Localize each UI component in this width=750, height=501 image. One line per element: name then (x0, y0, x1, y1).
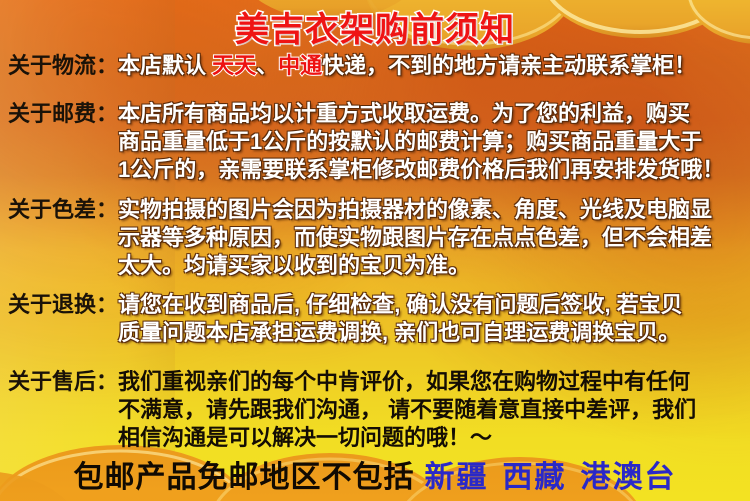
region-hongkong-macau-taiwan: 港澳台 (581, 461, 677, 494)
footer-main-text: 包邮产品免邮地区不包括 (74, 461, 415, 494)
section-color-difference: 关于色差： 实物拍摄的图片会因为拍摄器材的像素、角度、光线及电脑显 示器等多种原… (8, 196, 748, 280)
logistics-text-prefix: 本店默认 (118, 53, 212, 78)
section-body-returns-exchange: 请您在收到商品后, 仔细检查, 确认没有问题后签收, 若宝贝 质量问题本店承担运… (118, 291, 748, 347)
courier-separator: 、 (256, 53, 278, 78)
courier-name-tiantian: 天天 (212, 53, 256, 78)
section-body-logistics: 本店默认 天天、中通快递，不到的地方请亲主动联系掌柜！ (118, 52, 748, 80)
courier-name-zhongtong: 中通 (278, 53, 322, 78)
section-shipping-fee: 关于邮费： 本店所有商品均以计重方式收取运费。为了您的利益，购买 商品重量低于1… (8, 100, 748, 184)
footer-free-shipping-exclusions: 包邮产品免邮地区不包括新疆西藏港澳台 (0, 459, 750, 497)
section-after-sales: 关于售后： 我们重视亲们的每个中肯评价，如果您在购物过程中有任何 不满意，请先跟… (8, 368, 748, 452)
section-label-color-difference: 关于色差： (8, 196, 118, 224)
section-label-after-sales: 关于售后： (8, 368, 118, 396)
logistics-text-suffix: 快递，不到的地方请亲主动联系掌柜！ (322, 53, 696, 78)
section-body-color-difference: 实物拍摄的图片会因为拍摄器材的像素、角度、光线及电脑显 示器等多种原因，而使实物… (118, 196, 748, 280)
section-label-shipping-fee: 关于邮费： (8, 100, 118, 128)
page-title: 美吉衣架购前须知 (0, 2, 750, 51)
section-label-returns-exchange: 关于退换： (8, 291, 118, 319)
section-label-logistics: 关于物流： (8, 52, 118, 80)
region-xinjiang: 新疆 (425, 461, 489, 494)
shipping-notice-banner: 美吉衣架购前须知 关于物流： 本店默认 天天、中通快递，不到的地方请亲主动联系掌… (0, 0, 750, 501)
excluded-regions: 新疆西藏港澳台 (425, 461, 677, 494)
section-body-shipping-fee: 本店所有商品均以计重方式收取运费。为了您的利益，购买 商品重量低于1公斤的按默认… (118, 100, 748, 184)
section-returns-exchange: 关于退换： 请您在收到商品后, 仔细检查, 确认没有问题后签收, 若宝贝 质量问… (8, 291, 748, 347)
section-logistics: 关于物流： 本店默认 天天、中通快递，不到的地方请亲主动联系掌柜！ (8, 52, 748, 80)
region-xizang: 西藏 (503, 461, 567, 494)
section-body-after-sales: 我们重视亲们的每个中肯评价，如果您在购物过程中有任何 不满意，请先跟我们沟通， … (118, 368, 748, 452)
